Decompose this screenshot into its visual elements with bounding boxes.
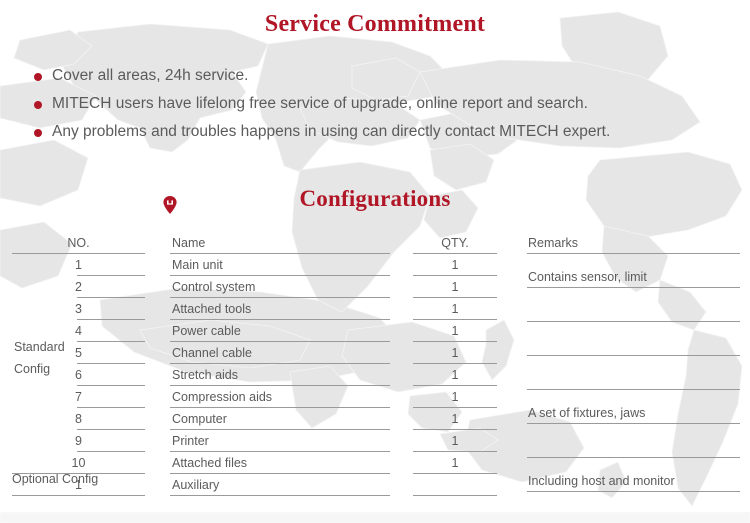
table-cell-no: 3 [12,298,145,320]
table-cell-qty: 1 [413,342,497,364]
list-item-text: Cover all areas, 24h service. [52,67,248,84]
table-cell-qty: 1 [413,364,497,386]
config-no-column: NO. 1 2 3 4 5 6 7 8 9 10 1 [12,232,145,496]
configurations-title: Configurations [0,186,750,212]
table-cell-qty: 1 [413,386,497,408]
column-header-name: Name [170,232,390,254]
page-root: Service Commitment Cover all areas, 24h … [0,0,750,523]
config-remarks-column: Remarks Contains sensor, limit A set of … [527,232,740,523]
table-cell-name: Attached files [170,452,390,474]
table-cell-remarks: Including host and monitor [527,458,740,492]
table-cell-remarks [527,322,740,356]
bullet-icon [34,101,42,109]
table-cell-remarks [527,492,740,523]
table-cell-qty [413,474,497,496]
table-cell-qty: 1 [413,408,497,430]
table-cell-no: 10 [12,452,145,474]
list-item-text: Any problems and troubles happens in usi… [52,123,610,140]
column-header-qty: QTY. [413,232,497,254]
table-cell-remarks: A set of fixtures, jaws [527,390,740,424]
column-header-no: NO. [12,232,145,254]
table-cell-name: Power cable [170,320,390,342]
table-cell-qty: 1 [413,276,497,298]
table-cell-name: Main unit [170,254,390,276]
table-cell-name: Attached tools [170,298,390,320]
table-cell-remarks: Contains sensor, limit [527,254,740,288]
list-item-text: MITECH users have lifelong free service … [52,95,588,112]
table-cell-no: 5 [12,342,145,364]
table-cell-no: 7 [12,386,145,408]
configurations-table: Standard Config Optional Config NO. 1 2 … [0,232,750,502]
service-commitment-list: Cover all areas, 24h service. MITECH use… [30,62,740,146]
table-cell-qty: 1 [413,452,497,474]
list-item: Any problems and troubles happens in usi… [30,118,740,146]
table-cell-no: 6 [12,364,145,386]
table-cell-name: Computer [170,408,390,430]
table-cell-qty: 1 [413,320,497,342]
service-commitment-title: Service Commitment [0,11,750,38]
table-cell-name: Channel cable [170,342,390,364]
table-cell-qty: 1 [413,254,497,276]
table-cell-qty: 1 [413,298,497,320]
table-cell-no: 1 [12,474,145,496]
column-header-remarks: Remarks [527,232,740,254]
list-item: Cover all areas, 24h service. [30,62,740,90]
config-name-column: Name Main unit Control system Attached t… [170,232,390,496]
table-cell-no: 2 [12,276,145,298]
table-cell-no: 4 [12,320,145,342]
table-cell-remarks [527,424,740,458]
table-cell-remarks [527,288,740,322]
config-qty-column: QTY. 1 1 1 1 1 1 1 1 1 1 [413,232,497,496]
table-cell-no: 9 [12,430,145,452]
table-cell-no: 1 [12,254,145,276]
table-cell-remarks [527,356,740,390]
table-cell-name: Auxiliary [170,474,390,496]
table-cell-name: Compression aids [170,386,390,408]
list-item: MITECH users have lifelong free service … [30,90,740,118]
table-cell-name: Printer [170,430,390,452]
bullet-icon [34,129,42,137]
bullet-icon [34,73,42,81]
table-cell-name: Control system [170,276,390,298]
table-cell-no: 8 [12,408,145,430]
table-cell-name: Stretch aids [170,364,390,386]
table-cell-qty: 1 [413,430,497,452]
